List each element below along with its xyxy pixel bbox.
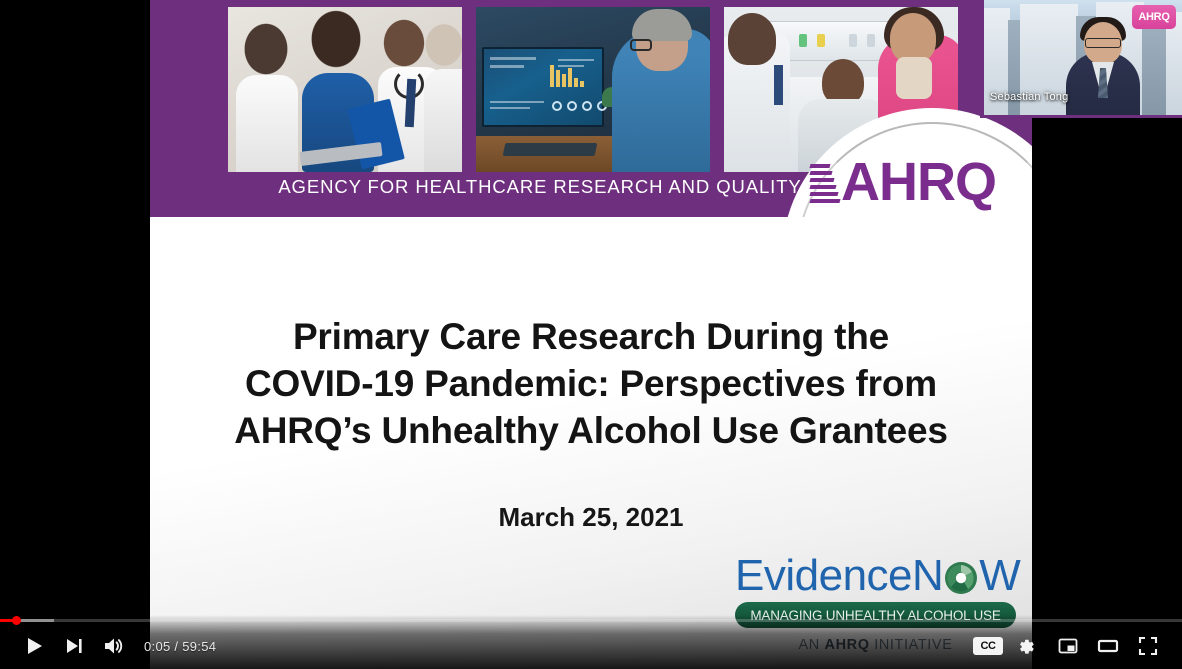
slide-title-line-3: AHRQ’s Unhealthy Alcohol Use Grantees: [174, 407, 1008, 454]
miniplayer-icon: [1056, 634, 1080, 658]
evidencenow-word-w: W: [979, 554, 1020, 598]
banner-photo-dashboard: [476, 7, 710, 172]
volume-button[interactable]: [94, 626, 134, 666]
speaker-webcam-tile[interactable]: Sebastian Tong AHRQ: [980, 0, 1182, 118]
theater-icon: [1096, 634, 1120, 658]
theater-mode-button[interactable]: [1088, 626, 1128, 666]
captions-button[interactable]: CC: [968, 626, 1008, 666]
banner-photo-clinicians: [228, 7, 462, 172]
ahrq-logo-bars-icon: [810, 161, 840, 205]
miniplayer-button[interactable]: [1048, 626, 1088, 666]
time-display: 0:05 / 59:54: [144, 639, 216, 654]
ahrq-webcam-badge: AHRQ: [1132, 5, 1176, 29]
controls-left-group: 0:05 / 59:54: [14, 626, 222, 666]
ahrq-logo: AHRQ: [810, 160, 996, 205]
presentation-slide: AGENCY FOR HEALTHCARE RESEARCH AND QUALI…: [150, 0, 1032, 669]
speaker-name-label: Sebastian Tong: [990, 91, 1068, 103]
slide-title: Primary Care Research During the COVID-1…: [174, 313, 1008, 454]
fullscreen-icon: [1136, 634, 1160, 658]
player-control-bar[interactable]: 0:05 / 59:54 CC: [0, 623, 1182, 669]
progress-track[interactable]: [0, 619, 1182, 622]
fullscreen-button[interactable]: [1128, 626, 1168, 666]
slide-title-line-1: Primary Care Research During the: [174, 313, 1008, 360]
evidencenow-swirl-icon: [944, 559, 978, 593]
video-player[interactable]: AGENCY FOR HEALTHCARE RESEARCH AND QUALI…: [0, 0, 1182, 669]
gear-icon: [1016, 634, 1040, 658]
play-button[interactable]: [14, 626, 54, 666]
ahrq-logo-text: AHRQ: [841, 160, 996, 205]
evidencenow-word-n: N: [912, 554, 943, 598]
slide-title-line-2: COVID-19 Pandemic: Perspectives from: [174, 360, 1008, 407]
slide-body: Primary Care Research During the COVID-1…: [150, 217, 1032, 669]
next-video-button[interactable]: [54, 626, 94, 666]
ahrq-webcam-badge-text: AHRQ: [1138, 11, 1169, 23]
captions-icon: CC: [973, 637, 1003, 655]
video-stage[interactable]: AGENCY FOR HEALTHCARE RESEARCH AND QUALI…: [0, 0, 1182, 669]
evidencenow-wordmark: Evidence N W: [735, 554, 1025, 598]
settings-button[interactable]: [1008, 626, 1048, 666]
slide-date: March 25, 2021: [174, 502, 1008, 533]
evidencenow-word-evidence: Evidence: [735, 554, 912, 598]
ahrq-banner: AGENCY FOR HEALTHCARE RESEARCH AND QUALI…: [150, 0, 1032, 217]
controls-right-group: CC: [968, 626, 1168, 666]
